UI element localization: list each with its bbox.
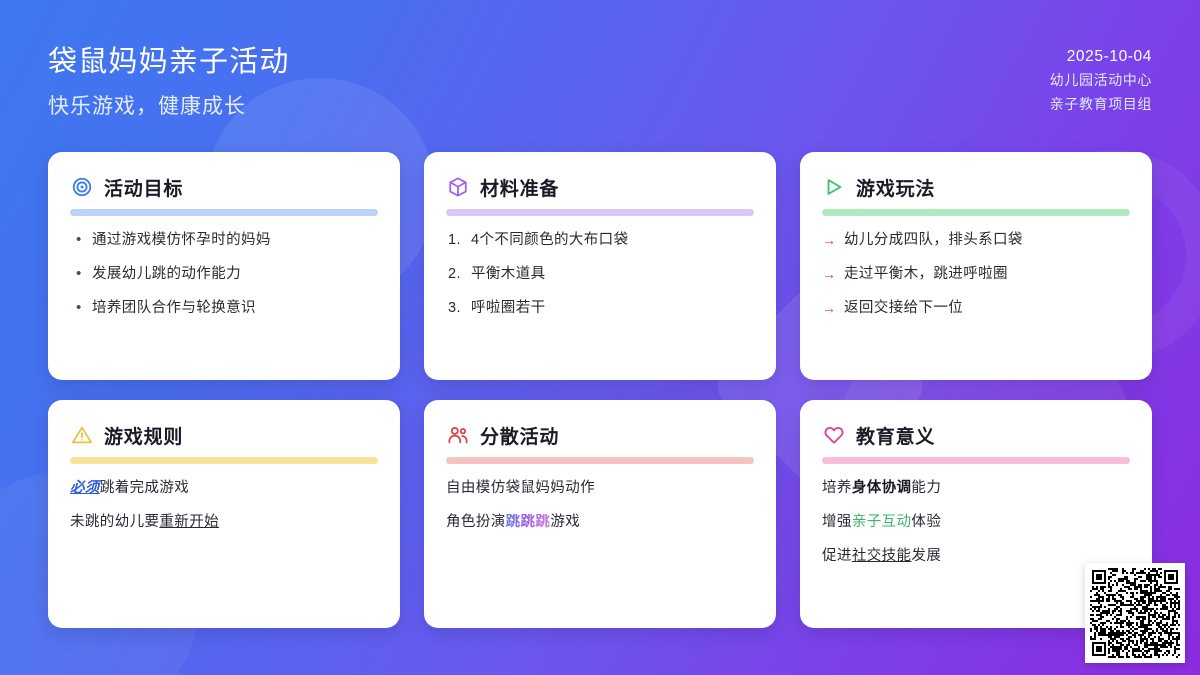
card-活动目标: 活动目标通过游戏模仿怀孕时的妈妈发展幼儿跳的动作能力培养团队合作与轮换意识 — [48, 152, 400, 380]
heart-icon — [822, 423, 846, 447]
list-item: 发展幼儿跳的动作能力 — [70, 264, 378, 286]
list-item: 自由模仿袋鼠妈妈动作 — [446, 478, 754, 500]
target-icon — [70, 175, 94, 199]
text-segment: 社交技能 — [852, 548, 912, 564]
text-segment: 游戏 — [550, 514, 580, 530]
qr-code-image — [1090, 568, 1180, 658]
page-subtitle: 快乐游戏，健康成长 — [48, 93, 290, 120]
card-材料准备: 材料准备4个不同颜色的大布口袋平衡木道具呼啦圈若干 — [424, 152, 776, 380]
card-body: 通过游戏模仿怀孕时的妈妈发展幼儿跳的动作能力培养团队合作与轮换意识 — [70, 230, 378, 319]
slide-header: 袋鼠妈妈亲子活动 快乐游戏，健康成长 2025-10-04 幼儿园活动中心 亲子… — [0, 0, 1200, 150]
card-header: 游戏规则 — [70, 420, 378, 450]
meta-team: 亲子教育项目组 — [1050, 94, 1152, 114]
card-accent-rule — [446, 457, 754, 464]
card-body: 培养身体协调能力增强亲子互动体验促进社交技能发展 — [822, 478, 1130, 567]
card-title: 游戏玩法 — [856, 174, 935, 201]
text-segment: 促进 — [822, 548, 852, 564]
slide-root: 袋鼠妈妈亲子活动 快乐游戏，健康成长 2025-10-04 幼儿园活动中心 亲子… — [0, 0, 1200, 675]
header-left: 袋鼠妈妈亲子活动 快乐游戏，健康成长 — [48, 44, 290, 121]
list-item: 培养团队合作与轮换意识 — [70, 298, 378, 320]
card-list: 幼儿分成四队，排头系口袋走过平衡木，跳进呼啦圈返回交接给下一位 — [822, 230, 1130, 319]
card-title: 活动目标 — [104, 174, 183, 201]
card-body: 幼儿分成四队，排头系口袋走过平衡木，跳进呼啦圈返回交接给下一位 — [822, 230, 1130, 319]
card-title: 教育意义 — [856, 422, 935, 449]
card-header: 材料准备 — [446, 172, 754, 202]
list-item: 角色扮演跳跳跳游戏 — [446, 512, 754, 534]
list-item: 必须跳着完成游戏 — [70, 478, 378, 500]
card-list: 4个不同颜色的大布口袋平衡木道具呼啦圈若干 — [446, 230, 754, 319]
list-item: 平衡木道具 — [446, 264, 754, 286]
text-segment: 角色扮演 — [446, 514, 506, 530]
list-item: 走过平衡木，跳进呼啦圈 — [822, 264, 1130, 286]
text-segment: 发展 — [911, 548, 941, 564]
list-item: 增强亲子互动体验 — [822, 512, 1130, 534]
card-title: 游戏规则 — [104, 422, 183, 449]
text-segment: 重新开始 — [159, 514, 219, 530]
text-segment: 跳着完成游戏 — [100, 480, 189, 496]
text-segment: 亲子互动 — [852, 514, 912, 530]
play-icon — [822, 175, 846, 199]
card-游戏规则: 游戏规则必须跳着完成游戏未跳的幼儿要重新开始 — [48, 400, 400, 628]
card-header: 活动目标 — [70, 172, 378, 202]
list-item: 幼儿分成四队，排头系口袋 — [822, 230, 1130, 252]
text-segment: 自由模仿袋鼠妈妈动作 — [446, 480, 595, 496]
card-accent-rule — [70, 209, 378, 216]
card-grid: 活动目标通过游戏模仿怀孕时的妈妈发展幼儿跳的动作能力培养团队合作与轮换意识材料准… — [48, 152, 1152, 628]
card-accent-rule — [822, 457, 1130, 464]
list-item: 通过游戏模仿怀孕时的妈妈 — [70, 230, 378, 252]
users-icon — [446, 423, 470, 447]
text-segment: 身体协调 — [852, 480, 912, 496]
qr-code[interactable] — [1085, 563, 1185, 663]
text-segment: 跳跳跳 — [506, 514, 551, 530]
card-list: 通过游戏模仿怀孕时的妈妈发展幼儿跳的动作能力培养团队合作与轮换意识 — [70, 230, 378, 319]
card-accent-rule — [822, 209, 1130, 216]
text-segment: 增强 — [822, 514, 852, 530]
card-分散活动: 分散活动自由模仿袋鼠妈妈动作角色扮演跳跳跳游戏 — [424, 400, 776, 628]
list-item: 培养身体协调能力 — [822, 478, 1130, 500]
card-header: 分散活动 — [446, 420, 754, 450]
list-item: 促进社交技能发展 — [822, 546, 1130, 568]
card-title: 分散活动 — [480, 422, 559, 449]
card-body: 自由模仿袋鼠妈妈动作角色扮演跳跳跳游戏 — [446, 478, 754, 534]
text-segment: 未跳的幼儿要 — [70, 514, 159, 530]
warning-icon — [70, 423, 94, 447]
package-icon — [446, 175, 470, 199]
card-body: 4个不同颜色的大布口袋平衡木道具呼啦圈若干 — [446, 230, 754, 319]
list-item: 呼啦圈若干 — [446, 298, 754, 320]
meta-organization: 幼儿园活动中心 — [1050, 70, 1152, 90]
card-header: 教育意义 — [822, 420, 1130, 450]
list-item: 未跳的幼儿要重新开始 — [70, 512, 378, 534]
text-segment: 必须 — [70, 480, 100, 496]
list-item: 返回交接给下一位 — [822, 298, 1130, 320]
card-accent-rule — [446, 209, 754, 216]
card-title: 材料准备 — [480, 174, 559, 201]
header-meta: 2025-10-04 幼儿园活动中心 亲子教育项目组 — [1050, 44, 1152, 114]
meta-date: 2025-10-04 — [1067, 48, 1152, 66]
card-游戏玩法: 游戏玩法幼儿分成四队，排头系口袋走过平衡木，跳进呼啦圈返回交接给下一位 — [800, 152, 1152, 380]
card-header: 游戏玩法 — [822, 172, 1130, 202]
text-segment: 培养 — [822, 480, 852, 496]
card-accent-rule — [70, 457, 378, 464]
page-title: 袋鼠妈妈亲子活动 — [48, 44, 290, 80]
text-segment: 能力 — [911, 480, 941, 496]
list-item: 4个不同颜色的大布口袋 — [446, 230, 754, 252]
text-segment: 体验 — [911, 514, 941, 530]
card-body: 必须跳着完成游戏未跳的幼儿要重新开始 — [70, 478, 378, 534]
